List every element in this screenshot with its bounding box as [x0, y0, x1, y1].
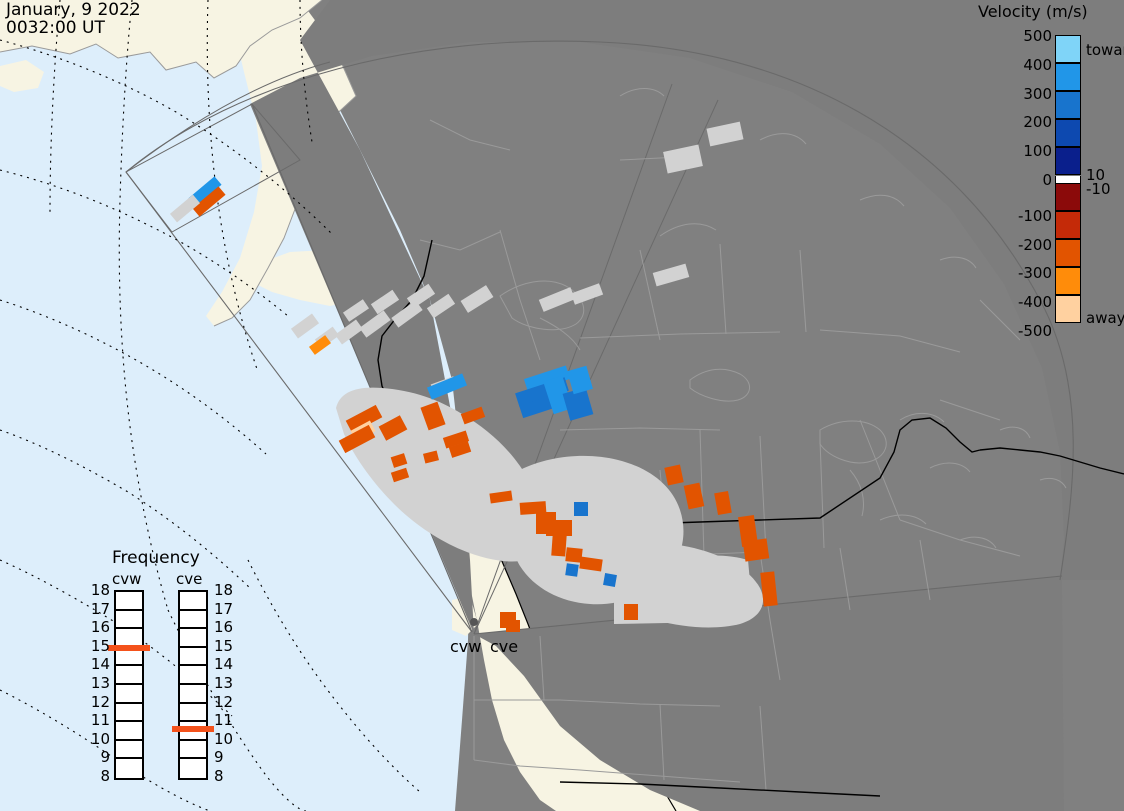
frequency-bar-segment	[180, 759, 206, 778]
colorbar-tick: -500	[1018, 322, 1052, 340]
colorbar-tick: 200	[1023, 113, 1052, 131]
frequency-tick: 9	[88, 748, 110, 766]
frequency-bar-cve	[178, 590, 208, 780]
frequency-tick: 10	[214, 730, 233, 748]
velocity-cell	[391, 468, 409, 482]
colorbar-swatch	[1055, 119, 1081, 147]
colorbar-swatch	[1055, 63, 1081, 91]
frequency-column-header-cve: cve	[176, 570, 202, 588]
velocity-cell	[343, 299, 369, 322]
colorbar-tick: -300	[1018, 264, 1052, 282]
frequency-tick: 16	[88, 618, 110, 636]
colorbar-tick-labels: 5004003002001000-100-200-300-400-500	[990, 28, 1052, 330]
velocity-colorbar	[1055, 35, 1081, 323]
radar-map-figure: January, 9 20220032:00 UT cvwcve Velocit…	[0, 0, 1124, 811]
frequency-bar-segment	[180, 666, 206, 685]
velocity-cell	[461, 407, 485, 425]
colorbar-tick: 500	[1023, 27, 1052, 45]
frequency-tick: 11	[214, 711, 233, 729]
colorbar-away-label: away	[1086, 309, 1124, 327]
frequency-marker-cve	[172, 726, 214, 732]
velocity-cell	[539, 287, 575, 312]
colorbar-swatch	[1055, 211, 1081, 239]
velocity-cell	[684, 483, 705, 510]
velocity-cell	[565, 547, 582, 563]
frequency-bar-segment	[116, 666, 142, 685]
frequency-bar-segment	[116, 685, 142, 704]
frequency-bar-segment	[180, 611, 206, 630]
frequency-bar-segment	[116, 611, 142, 630]
frequency-bar-segment	[180, 741, 206, 760]
velocity-cell	[664, 465, 683, 486]
frequency-tick: 18	[214, 581, 233, 599]
velocity-cell	[391, 453, 408, 468]
frequency-bar-segment	[180, 704, 206, 723]
velocity-cell	[743, 538, 770, 561]
velocity-cell	[663, 144, 703, 173]
colorbar-swatch	[1055, 295, 1081, 323]
velocity-cell	[506, 620, 520, 632]
velocity-cell	[574, 502, 588, 516]
frequency-bar-segment	[116, 704, 142, 723]
frequency-bar-segment	[180, 648, 206, 667]
frequency-tick: 14	[214, 655, 233, 673]
frequency-tick: 12	[214, 693, 233, 711]
colorbar-tick: 300	[1023, 85, 1052, 103]
velocity-cell	[707, 122, 744, 147]
radar-beam-label-cvw: cvw	[450, 637, 481, 656]
colorbar-tick: 0	[1042, 171, 1052, 189]
frequency-tick: 15	[214, 637, 233, 655]
velocity-cell	[624, 604, 638, 620]
frequency-tick: 14	[88, 655, 110, 673]
velocity-cell	[603, 573, 617, 587]
frequency-tick: 16	[214, 618, 233, 636]
velocity-cell	[489, 491, 512, 504]
velocity-cell	[653, 264, 690, 287]
colorbar-swatch	[1055, 176, 1081, 183]
velocity-cell	[565, 563, 579, 577]
colorbar-side-labels: toward10-10away	[1086, 28, 1124, 330]
frequency-tick: 17	[88, 600, 110, 618]
colorbar-swatch	[1055, 35, 1081, 63]
velocity-cell	[579, 557, 602, 572]
velocity-cell	[423, 450, 439, 463]
timestamp: January, 9 20220032:00 UT	[6, 1, 141, 37]
colorbar-swatch	[1055, 183, 1081, 211]
frequency-bar-segment	[180, 629, 206, 648]
colorbar-tick: -400	[1018, 293, 1052, 311]
colorbar-tick: -200	[1018, 236, 1052, 254]
colorbar-neg-threshold-label: -10	[1086, 180, 1111, 198]
velocity-cell	[407, 284, 435, 308]
frequency-legend: Frequency cvw18171615141312111098cve1817…	[86, 548, 238, 788]
frequency-bar-segment	[116, 592, 142, 611]
colorbar-tick: 100	[1023, 142, 1052, 160]
colorbar-toward-label: toward	[1086, 41, 1124, 59]
colorbar-title: Velocity (m/s)	[978, 2, 1088, 21]
colorbar-swatch	[1055, 91, 1081, 119]
velocity-cell	[760, 571, 777, 606]
colorbar-tick: 400	[1023, 56, 1052, 74]
frequency-tick: 18	[88, 581, 110, 599]
velocity-cell	[291, 314, 319, 339]
velocity-cell	[567, 366, 593, 395]
velocity-cell	[461, 285, 494, 313]
frequency-marker-cvw	[108, 645, 150, 651]
colorbar-swatch	[1055, 267, 1081, 295]
frequency-tick: 8	[214, 767, 224, 785]
velocity-cell	[427, 294, 455, 318]
frequency-bar-cvw	[114, 590, 144, 780]
frequency-legend-title: Frequency	[112, 548, 200, 568]
frequency-tick: 8	[88, 767, 110, 785]
velocity-cell	[371, 290, 399, 314]
frequency-bar-segment	[180, 592, 206, 611]
frequency-tick: 10	[88, 730, 110, 748]
frequency-bar-segment	[116, 722, 142, 741]
velocity-cell	[335, 320, 363, 345]
velocity-cell	[546, 520, 572, 536]
velocity-cell	[420, 402, 445, 431]
frequency-tick: 13	[88, 674, 110, 692]
colorbar-swatch	[1055, 239, 1081, 267]
velocity-cell	[379, 415, 408, 440]
timestamp-time: 0032:00 UT	[6, 18, 105, 38]
velocity-cell	[427, 373, 467, 399]
frequency-tick: 11	[88, 711, 110, 729]
velocity-cell	[359, 310, 390, 337]
velocity-cell	[714, 491, 732, 515]
frequency-tick: 17	[214, 600, 233, 618]
timestamp-date: January, 9 2022	[6, 0, 141, 20]
colorbar-swatch	[1055, 147, 1081, 175]
frequency-bar-segment	[116, 759, 142, 778]
frequency-bar-segment	[116, 741, 142, 760]
colorbar-tick: -100	[1018, 207, 1052, 225]
frequency-column-header-cvw: cvw	[112, 570, 141, 588]
frequency-tick: 9	[214, 748, 224, 766]
frequency-tick: 12	[88, 693, 110, 711]
frequency-tick: 15	[88, 637, 110, 655]
radar-beam-label-cve: cve	[490, 637, 518, 656]
velocity-cell	[551, 534, 567, 557]
velocity-cell	[571, 283, 603, 305]
frequency-bar-segment	[180, 685, 206, 704]
frequency-tick: 13	[214, 674, 233, 692]
